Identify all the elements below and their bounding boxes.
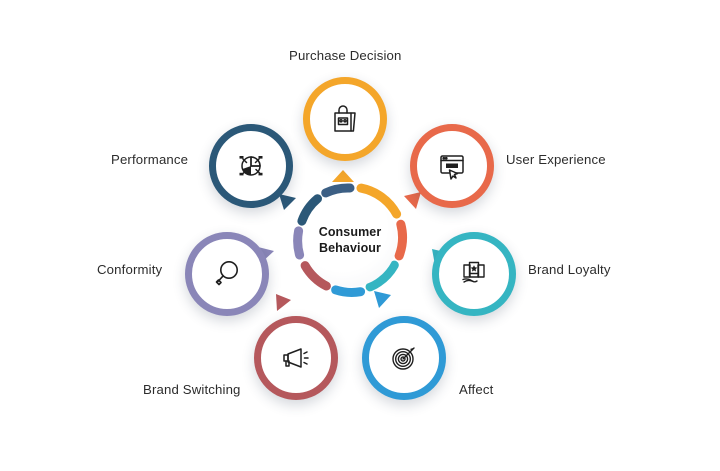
hub-label-line2: Behaviour (319, 240, 381, 257)
hub-label: Consumer Behaviour (286, 176, 414, 304)
label-conformity: Conformity (97, 262, 162, 277)
label-user-experience: User Experience (506, 152, 606, 167)
shopping-bag-icon (327, 101, 363, 137)
pie-chart-analytics-icon (233, 148, 269, 184)
node-user-experience[interactable] (410, 124, 494, 208)
label-brand-switching: Brand Switching (143, 382, 241, 397)
megaphone-icon (278, 340, 314, 376)
node-affect[interactable] (362, 316, 446, 400)
node-brand-switching[interactable] (254, 316, 338, 400)
browser-cursor-icon (434, 148, 470, 184)
label-affect: Affect (459, 382, 493, 397)
label-brand-loyalty: Brand Loyalty (528, 262, 611, 277)
hub-label-line1: Consumer (319, 224, 382, 241)
label-purchase-decision: Purchase Decision (289, 48, 402, 63)
label-performance: Performance (111, 152, 188, 167)
target-dartboard-icon (386, 340, 422, 376)
center-hub: Consumer Behaviour (286, 176, 414, 304)
node-brand-loyalty[interactable] (432, 232, 516, 316)
node-conformity[interactable] (185, 232, 269, 316)
infographic-canvas: Consumer Behaviour Purchase Decision (0, 0, 720, 471)
magnifying-glass-icon (209, 256, 245, 292)
hand-award-card-icon (456, 256, 492, 292)
node-purchase-decision[interactable] (303, 77, 387, 161)
node-performance[interactable] (209, 124, 293, 208)
